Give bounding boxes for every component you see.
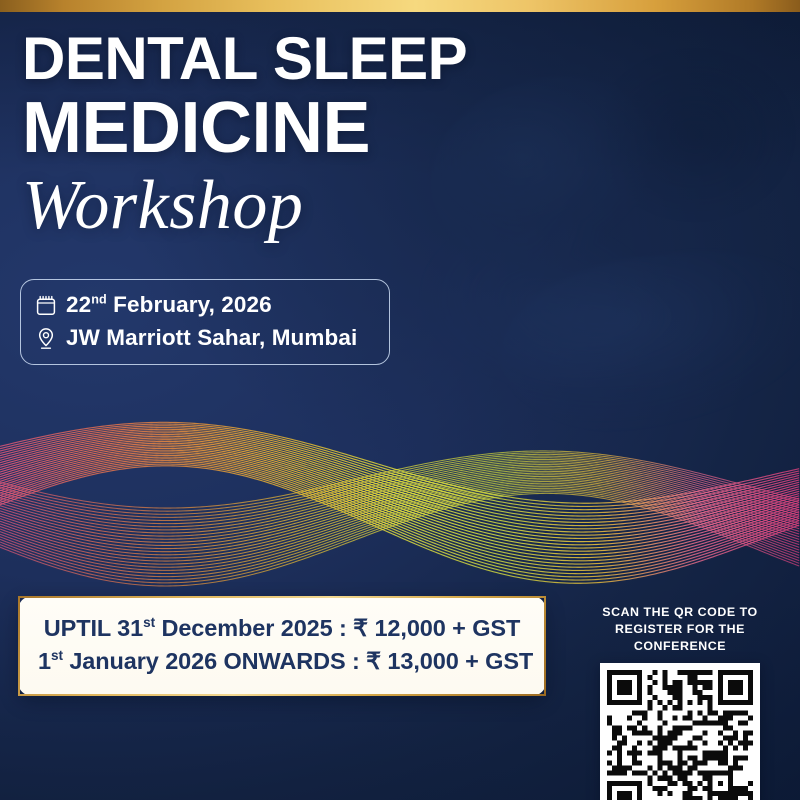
pricing-line-early: UPTIL 31st December 2025 : ₹ 12,000 + GS… bbox=[38, 612, 526, 645]
page-title: DENTAL SLEEP MEDICINE Workshop bbox=[22, 30, 622, 241]
event-date-text: 22nd February, 2026 bbox=[66, 292, 272, 318]
pricing-early-rest: December 2025 : ₹ 12,000 + GST bbox=[155, 615, 520, 641]
pricing-line-regular: 1st January 2026 ONWARDS : ₹ 13,000 + GS… bbox=[38, 645, 526, 678]
event-details-box: 22nd February, 2026 JW Marriott Sahar, M… bbox=[20, 279, 390, 365]
qr-registration-block: SCAN THE QR CODE TO REGISTER FOR THE CON… bbox=[570, 604, 790, 800]
poster-root: DENTAL SLEEP MEDICINE Workshop 22nd Febr… bbox=[0, 0, 800, 800]
pricing-early-prefix: UPTIL 31 bbox=[44, 615, 143, 641]
location-pin-icon bbox=[35, 326, 57, 350]
event-venue-row: JW Marriott Sahar, Mumbai bbox=[35, 325, 373, 351]
event-date-rest: February, 2026 bbox=[107, 292, 272, 317]
gold-accent-bar bbox=[0, 0, 800, 12]
calendar-icon bbox=[35, 293, 57, 317]
event-date-row: 22nd February, 2026 bbox=[35, 292, 373, 318]
title-line-2: MEDICINE bbox=[22, 93, 622, 164]
event-date-ordinal: nd bbox=[91, 293, 107, 307]
qr-caption-line-2: REGISTER FOR THE CONFERENCE bbox=[570, 621, 790, 655]
qr-code-image[interactable] bbox=[600, 663, 760, 800]
title-line-3: Workshop bbox=[22, 171, 622, 241]
event-venue-text: JW Marriott Sahar, Mumbai bbox=[66, 325, 357, 351]
pricing-regular-rest: January 2026 ONWARDS : ₹ 13,000 + GST bbox=[63, 648, 533, 674]
pricing-box: UPTIL 31st December 2025 : ₹ 12,000 + GS… bbox=[18, 596, 546, 696]
pricing-regular-ordinal: st bbox=[51, 649, 63, 664]
pricing-regular-prefix: 1 bbox=[38, 648, 51, 674]
qr-caption-line-1: SCAN THE QR CODE TO bbox=[570, 604, 790, 621]
event-date-day: 22 bbox=[66, 292, 91, 317]
title-line-1: DENTAL SLEEP bbox=[22, 30, 622, 89]
pricing-early-ordinal: st bbox=[143, 615, 155, 630]
